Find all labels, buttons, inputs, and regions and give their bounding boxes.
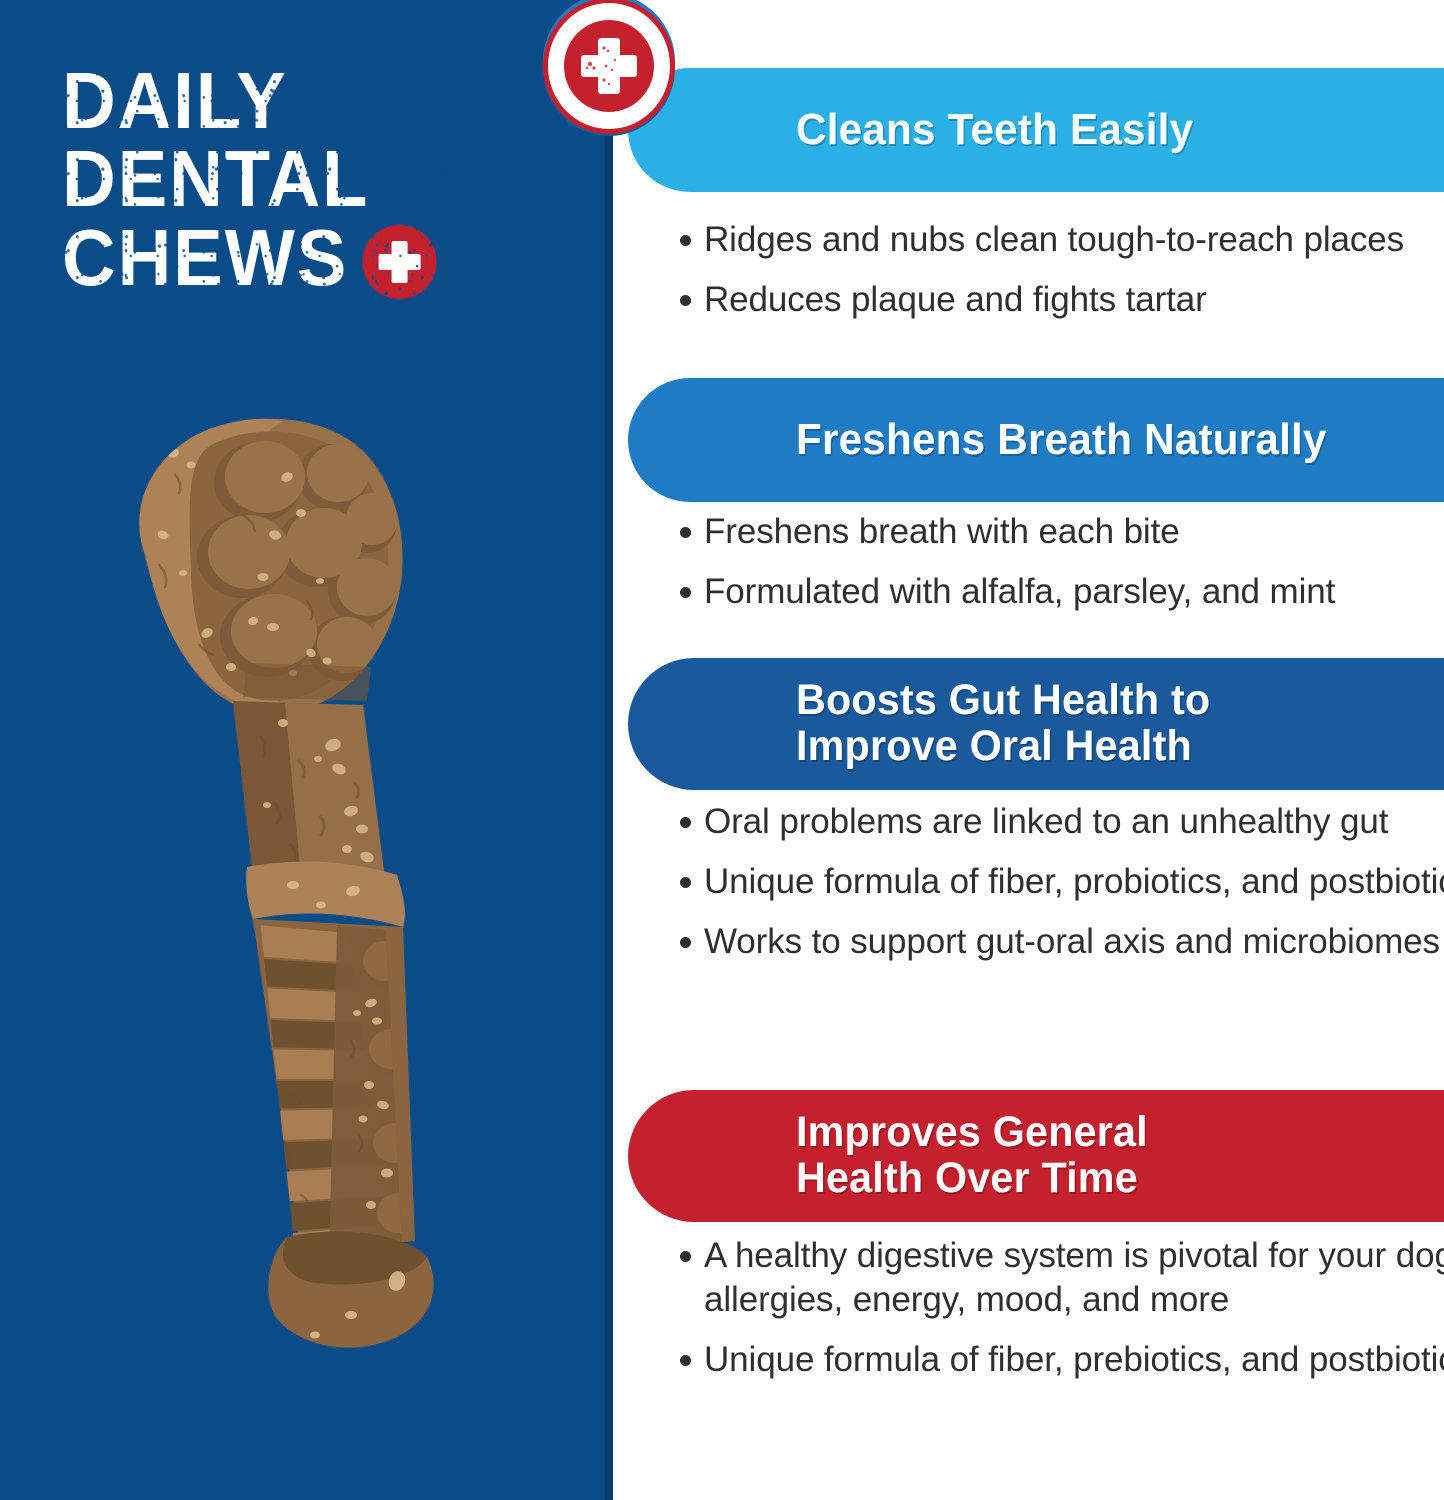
feature-heading-3-line-1: Boosts Gut Health to [796,678,1210,724]
feature-heading-1: Cleans Teeth Easily [796,107,1193,154]
medical-cross-icon [362,225,436,299]
bullet-dot-icon [680,295,691,306]
feature-bullets-2: Freshens breath with each bite Formulate… [680,510,1444,614]
feature-heading-3-line-2: Improve Oral Health [796,724,1210,770]
bullet-dot-icon [680,877,691,888]
feature-bullets-1: Ridges and nubs clean tough-to-reach pla… [680,218,1444,322]
cross-horizontal-bar [378,254,420,270]
feature-heading-2: Freshens Breath Naturally [796,417,1327,464]
chew-bottom-cap [268,1231,433,1347]
title-text-dental: DENTAL [62,134,369,223]
bullet-dot-icon [680,587,691,598]
bullet-dot-icon [680,527,691,538]
feature-banner-4: Improves General Health Over Time [628,1090,1444,1222]
feature-banner-1: Cleans Teeth Easily [628,68,1444,192]
title-line-3: CHEWS [62,217,499,299]
feature-heading-4: Improves General Health Over Time [796,1110,1148,1201]
bullet-dot-icon [680,1355,691,1366]
feature-banner-3: Boosts Gut Health to Improve Oral Health [628,658,1444,790]
feature-heading-4-line-2: Health Over Time [796,1156,1148,1202]
list-item: Unique formula of fiber, prebiotics, and… [680,1338,1444,1382]
feature-heading-3: Boosts Gut Health to Improve Oral Health [796,678,1210,769]
title-line-2: DENTAL [62,140,499,218]
panel-edge-divider [605,0,613,1500]
chew-ridged-section [235,919,431,1263]
title-line-1: DAILY [62,62,499,140]
medical-cross-circle-icon [540,0,678,136]
bullet-dot-icon [680,1251,691,1262]
product-infographic: DAILY DENTAL CHEWS [0,0,1444,1500]
title-text-chews: CHEWS [62,219,348,297]
list-item: Freshens breath with each bite [680,510,1444,554]
bullet-dot-icon [680,817,691,828]
feature-banner-2: Freshens Breath Naturally [628,378,1444,502]
list-item: Oral problems are linked to an unhealthy… [680,800,1444,844]
list-item: Works to support gut-oral axis and micro… [680,920,1444,964]
list-item: Reduces plaque and fights tartar [680,278,1444,322]
list-item: Unique formula of fiber, probiotics, and… [680,860,1444,904]
title-text-daily: DAILY [62,56,288,145]
dog-dental-chew-illustration [115,405,485,1355]
bullet-dot-icon [680,235,691,246]
chew-collar [246,861,405,927]
feature-heading-4-line-1: Improves General [796,1110,1148,1156]
list-item: Ridges and nubs clean tough-to-reach pla… [680,218,1444,262]
feature-bullets-3: Oral problems are linked to an unhealthy… [680,800,1444,964]
bullet-dot-icon [680,937,691,948]
chew-shaft [233,663,385,879]
list-item: Formulated with alfalfa, parsley, and mi… [680,570,1444,614]
list-item: A healthy digestive system is pivotal fo… [680,1234,1444,1322]
feature-bullets-4: A healthy digestive system is pivotal fo… [680,1234,1444,1382]
page-title: DAILY DENTAL CHEWS [62,62,532,299]
